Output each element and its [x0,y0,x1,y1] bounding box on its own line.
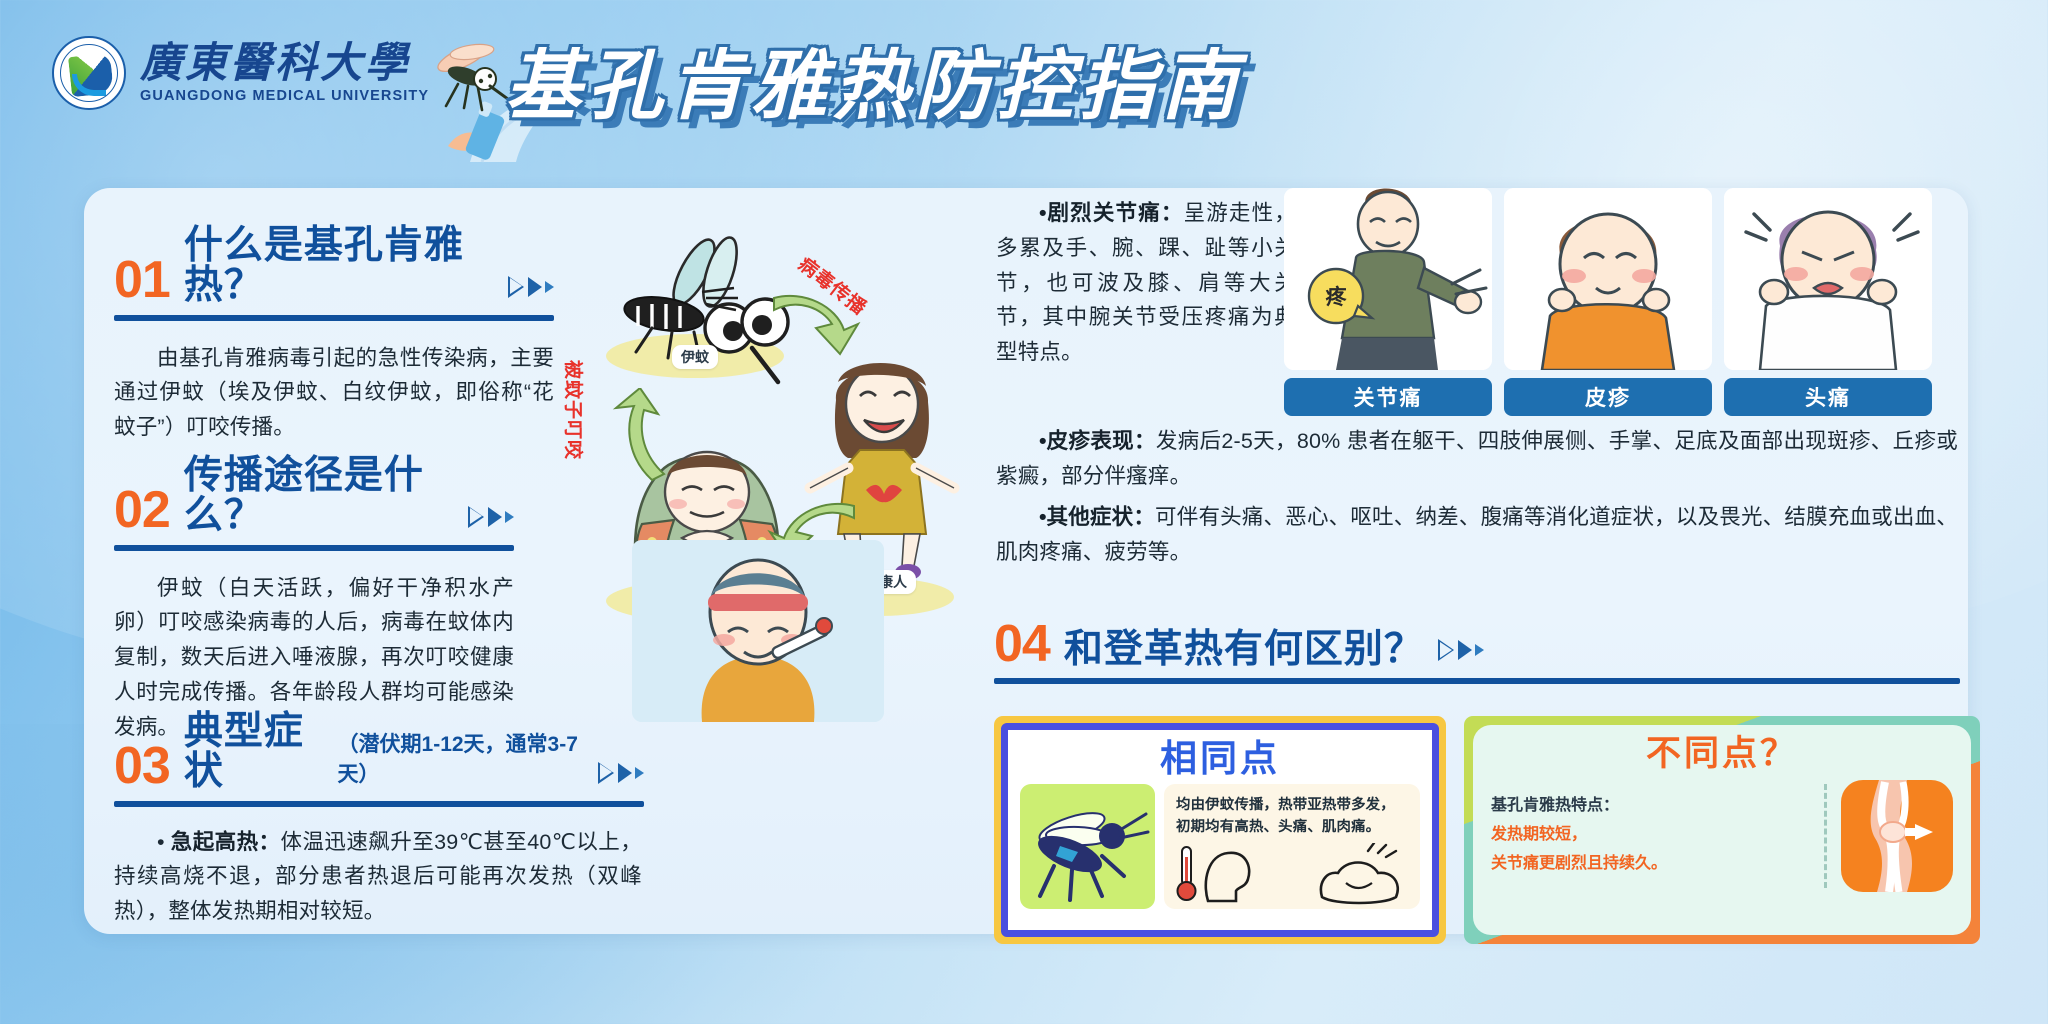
university-seal-icon [52,36,126,110]
symptom-bullet-rash: •皮疹表现：发病后2-5天，80% 患者在躯干、四肢伸展侧、手掌、足底及面部出现… [996,424,1958,494]
section-04-divider [994,678,1960,684]
section-03-subtitle: （潜伏期1-12天，通常3-7天） [338,728,584,792]
label-mosquito: 伊蚊 [672,345,718,369]
section-01: 01 什么是基孔肯雅热？ 由基孔肯雅病毒引起的急性传染病，主要通过伊蚊（埃及伊蚊… [114,226,554,445]
sick-child-thermometer-icon [632,540,884,722]
section-01-arrow-icon [508,276,554,306]
section-04: 04 和登革热有何区别？ [994,620,1960,684]
symptom-bullet-joint: •剧烈关节痛：呈游走性，多累及手、腕、踝、趾等小关节，也可波及膝、肩等大关节，其… [996,196,1296,370]
section-02: 02 传播途径是什么？ 伊蚊（白天活跃，偏好干净积水产卵）叮咬感染病毒的人后，病… [114,456,514,745]
mosquito-silhouette-icon [1020,784,1155,909]
symptom-label-headache: 头痛 [1724,378,1932,416]
headache-person-icon [1724,188,1932,370]
section-03-number: 03 [114,742,170,791]
comparison-same-heading: 相同点 [1020,739,1420,780]
knee-joint-icon [1841,780,1953,892]
symptom-bullet-other-lead: 其他症状： [1047,505,1156,529]
university-logo: 廣東醫科大學 GUANGDONG MEDICAL UNIVERSITY [52,36,429,110]
arrow-label-bitten: 被蚊子叮咬 [561,360,588,460]
comparison-diff-divider [1824,784,1827,888]
page-title: 基孔肯雅热防控指南 [505,24,1505,134]
section-03-header: 03 典型症状 （潜伏期1-12天，通常3-7天） [114,712,644,792]
content-panel: 01 什么是基孔肯雅热？ 由基孔肯雅病毒引起的急性传染病，主要通过伊蚊（埃及伊蚊… [84,188,1968,934]
poster-header: 廣東醫科大學 GUANGDONG MEDICAL UNIVERSITY 基孔肯雅… [0,0,2048,148]
symptom-card-joint-pain: 疼 [1284,188,1492,370]
joint-pain-person-icon: 疼 [1284,188,1492,370]
symptom-bullet-fever: • 急起高热：体温迅速飙升至39℃甚至40℃以上，持续高烧不退，部分患者热退后可… [114,825,642,929]
rash-face-person-icon [1504,188,1712,370]
section-04-header: 04 和登革热有何区别？ [994,620,1960,669]
section-02-header: 02 传播途径是什么？ [114,456,514,536]
section-02-title: 传播途径是什么？ [184,456,454,536]
section-03-title: 典型症状 [184,712,324,792]
section-01-paragraph: 由基孔肯雅病毒引起的急性传染病，主要通过伊蚊（埃及伊蚊、白纹伊蚊，即俗称“花蚊子… [114,341,554,445]
muscle-arm-icon [1312,843,1408,907]
comparison-same-note-line1: 均由伊蚊传播，热带亚热带多发， [1176,794,1408,816]
section-01-title: 什么是基孔肯雅热？ [184,226,494,306]
symptom-bullet-other: •其他症状：可伴有头痛、恶心、呕吐、纳差、腹痛等消化道症状，以及畏光、结膜充血或… [996,500,1958,570]
comparison-card-same: 相同点 [994,716,1446,944]
section-03: 03 典型症状 （潜伏期1-12天，通常3-7天） • 急起高热：体温迅速飙升至… [114,712,644,929]
section-02-divider [114,545,514,551]
section-02-number: 02 [114,486,170,535]
right-column: •剧烈关节痛：呈游走性，多累及手、腕、踝、趾等小关节，也可波及膝、肩等大关节，其… [986,188,1968,934]
comparison-diff-point-1: 发热期较短， [1491,821,1810,850]
comparison-same-note: 均由伊蚊传播，热带亚热带多发， 初期均有高热、头痛、肌肉痛。 [1164,784,1420,909]
symptom-card-rash [1504,188,1712,370]
comparison-diff-heading: 不同点？ [1491,735,1953,774]
thermometer-head-icon [1174,843,1254,905]
section-02-arrow-icon [468,506,514,536]
section-01-number: 01 [114,256,170,305]
comparison-diff-intro: 基孔肯雅热特点： [1491,792,1810,821]
section-03-divider [114,801,644,807]
section-03-arrow-icon [598,762,644,792]
symptom-bullet-fever-lead: 急起高热： [171,830,281,854]
comparison-diff-point-2: 关节痛更剧烈且持续久。 [1491,850,1810,879]
symptom-label-rash: 皮疹 [1504,378,1712,416]
symptom-bullet-rash-lead: 皮疹表现： [1047,429,1156,453]
section-01-header: 01 什么是基孔肯雅热？ [114,226,554,306]
section-01-divider [114,315,554,321]
fever-illustration-card: 突发高热（＞39℃） [632,540,884,722]
symptom-card-headache [1724,188,1932,370]
section-04-title: 和登革热有何区别？ [1064,630,1424,670]
svg-text:疼: 疼 [1326,285,1348,309]
university-name-en: GUANGDONG MEDICAL UNIVERSITY [140,88,429,104]
comparison-diff-text: 基孔肯雅热特点： 发热期较短， 关节痛更剧烈且持续久。 [1491,792,1810,878]
symptom-bullet-joint-lead: 剧烈关节痛： [1047,201,1184,225]
arrow-bitten-icon [602,388,672,488]
university-name-cn: 廣東醫科大學 [140,42,429,86]
section-04-arrow-icon [1438,639,1484,669]
left-column: 01 什么是基孔肯雅热？ 由基孔肯雅病毒引起的急性传染病，主要通过伊蚊（埃及伊蚊… [84,188,984,934]
comparison-same-mosquito-box [1020,784,1155,909]
comparison-same-note-line2: 初期均有高热、头痛、肌肉痛。 [1176,816,1408,838]
symptom-label-joint-pain: 关节痛 [1284,378,1492,416]
symptom-bullet-joint-text: 呈游走性，多累及手、腕、踝、趾等小关节，也可波及膝、肩等大关节，其中腕关节受压疼… [996,201,1296,364]
comparison-row: 相同点 [994,716,1980,944]
section-04-number: 04 [994,620,1050,669]
comparison-diff-knee-box [1841,780,1953,892]
comparison-card-different: 不同点？ 基孔肯雅热特点： 发热期较短， 关节痛更剧烈且持续久。 [1464,716,1980,944]
